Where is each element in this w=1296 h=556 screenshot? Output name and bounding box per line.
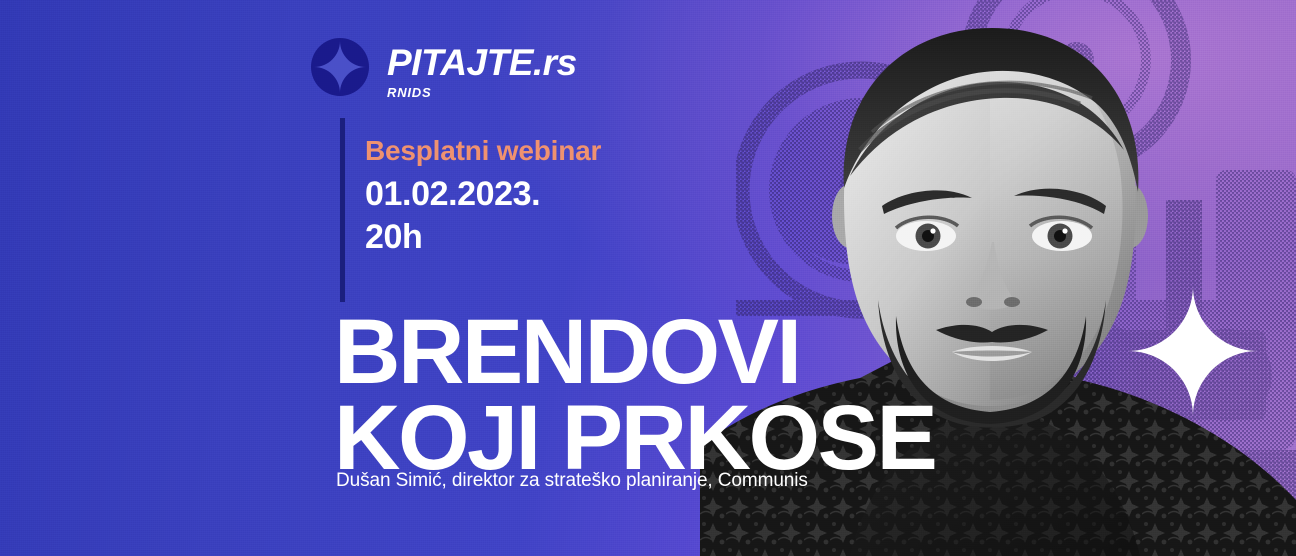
event-date: 01.02.2023. — [365, 173, 601, 216]
accent-vertical-rule — [340, 118, 345, 302]
event-kicker: Besplatni webinar — [365, 134, 601, 167]
four-point-star-in-circle-icon — [311, 38, 369, 96]
event-meta-block: Besplatni webinar 01.02.2023. 20h — [365, 134, 601, 258]
pitajte-logo[interactable]: PITAJTE.rs RNIDS — [311, 38, 577, 99]
page-title: BRENDOVI KOJI PRKOSE — [334, 310, 935, 481]
logo-title: PITAJTE.rs — [387, 44, 577, 81]
speaker-credit: Dušan Simić, direktor za strateško plani… — [336, 468, 856, 495]
event-time: 20h — [365, 216, 601, 259]
logo-wordmark: PITAJTE.rs RNIDS — [387, 38, 577, 99]
logo-org: RNIDS — [387, 86, 577, 99]
webinar-promo-banner: PITAJTE.rs RNIDS Besplatni webinar 01.02… — [0, 0, 1296, 556]
